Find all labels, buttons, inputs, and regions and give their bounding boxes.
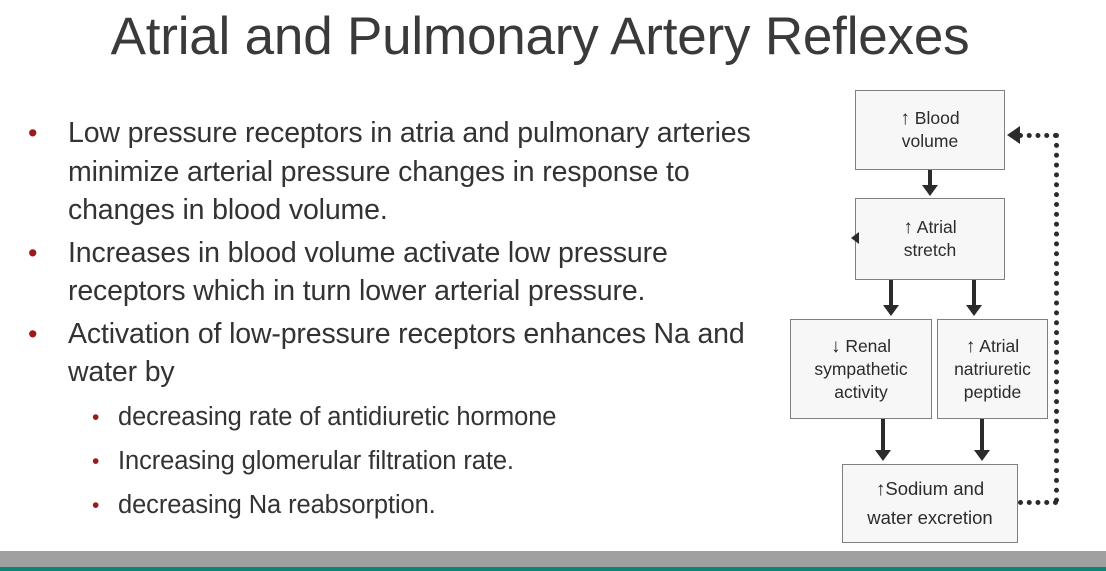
up-arrow-icon: ↑ — [900, 108, 910, 129]
flow-node-label-line2: natriuretic — [954, 359, 1031, 379]
feedback-dotted-segment — [1018, 133, 1058, 138]
bullet-marker: • — [28, 234, 37, 273]
flow-node-sodium-water-excretion: ↑Sodium and water excretion — [842, 464, 1018, 543]
sub-bullet-text: decreasing rate of antidiuretic hormone — [118, 396, 786, 439]
flow-node-label-line2: sympathetic — [814, 359, 907, 379]
bullet-marker: • — [28, 315, 37, 354]
bullet-item: • Low pressure receptors in atria and pu… — [14, 114, 786, 230]
flow-node-blood-volume: ↑ Blood volume — [855, 90, 1005, 170]
sub-bullet-marker: • — [92, 396, 99, 439]
connector-arrowhead-icon — [883, 305, 899, 316]
bullet-marker: • — [28, 114, 37, 153]
up-arrow-icon: ↑ — [903, 217, 913, 238]
connector-arrowhead-icon — [966, 305, 982, 316]
flow-node-atrial-stretch: ↑ Atrial stretch — [855, 198, 1005, 280]
connector-line — [972, 280, 976, 306]
connector-arrowhead-icon — [974, 450, 990, 461]
sub-bullet-item: • Increasing glomerular filtration rate. — [14, 440, 786, 483]
connector-line — [889, 280, 893, 306]
sub-bullet-item: • decreasing Na reabsorption. — [14, 484, 786, 527]
feedback-dotted-segment — [1054, 133, 1059, 503]
flow-node-atrial-natriuretic-peptide: ↑ Atrial natriuretic peptide — [937, 319, 1048, 419]
connector-arrowhead-icon — [875, 450, 891, 461]
bullet-item: • Activation of low-pressure receptors e… — [14, 315, 786, 392]
bullet-text: Activation of low-pressure receptors enh… — [68, 315, 786, 392]
up-arrow-icon: ↑ — [966, 336, 976, 357]
bullet-text: Increases in blood volume activate low p… — [68, 234, 786, 311]
sub-bullet-marker: • — [92, 440, 99, 483]
connector-line — [928, 170, 932, 186]
slide: Atrial and Pulmonary Artery Reflexes • L… — [0, 0, 1106, 571]
connector-line — [881, 419, 885, 451]
flow-node-label-line2: volume — [902, 131, 958, 151]
flow-node-label-line3: peptide — [964, 382, 1021, 402]
bullet-list: • Low pressure receptors in atria and pu… — [14, 114, 786, 528]
footer-bar — [0, 551, 1106, 567]
flow-node-label-line1: Sodium and — [885, 478, 984, 499]
left-arrowhead-icon — [851, 232, 859, 244]
flow-node-label-line3: activity — [834, 382, 887, 402]
sub-bullet-text: Increasing glomerular filtration rate. — [118, 440, 786, 483]
sub-bullet-text: decreasing Na reabsorption. — [118, 484, 786, 527]
footer-accent-line — [0, 567, 1106, 571]
sub-bullet-item: • decreasing rate of antidiuretic hormon… — [14, 396, 786, 439]
flow-node-label-line1: Atrial — [979, 336, 1019, 356]
flow-node-label-line1: Atrial — [917, 217, 957, 237]
feedback-arrowhead-icon — [1007, 126, 1020, 144]
up-arrow-icon: ↑ — [876, 479, 886, 500]
connector-line — [980, 419, 984, 451]
bullet-text: Low pressure receptors in atria and pulm… — [68, 114, 786, 230]
down-arrow-icon: ↓ — [831, 336, 841, 357]
feedback-dotted-segment — [1018, 500, 1058, 505]
flow-node-label-line2: water excretion — [867, 507, 992, 528]
bullet-item: • Increases in blood volume activate low… — [14, 234, 786, 311]
page-title: Atrial and Pulmonary Artery Reflexes — [0, 6, 1080, 68]
connector-arrowhead-icon — [922, 185, 938, 196]
flow-node-label-line2: stretch — [904, 240, 957, 260]
flow-node-label-line1: Blood — [915, 108, 960, 128]
sub-bullet-marker: • — [92, 484, 99, 527]
flowchart-diagram: ↑ Blood volume ↑ Atrial stretch ↓ — [780, 80, 1106, 550]
flow-node-label-line1: Renal — [845, 336, 891, 356]
flow-node-renal-sympathetic-activity: ↓ Renal sympathetic activity — [790, 319, 932, 419]
